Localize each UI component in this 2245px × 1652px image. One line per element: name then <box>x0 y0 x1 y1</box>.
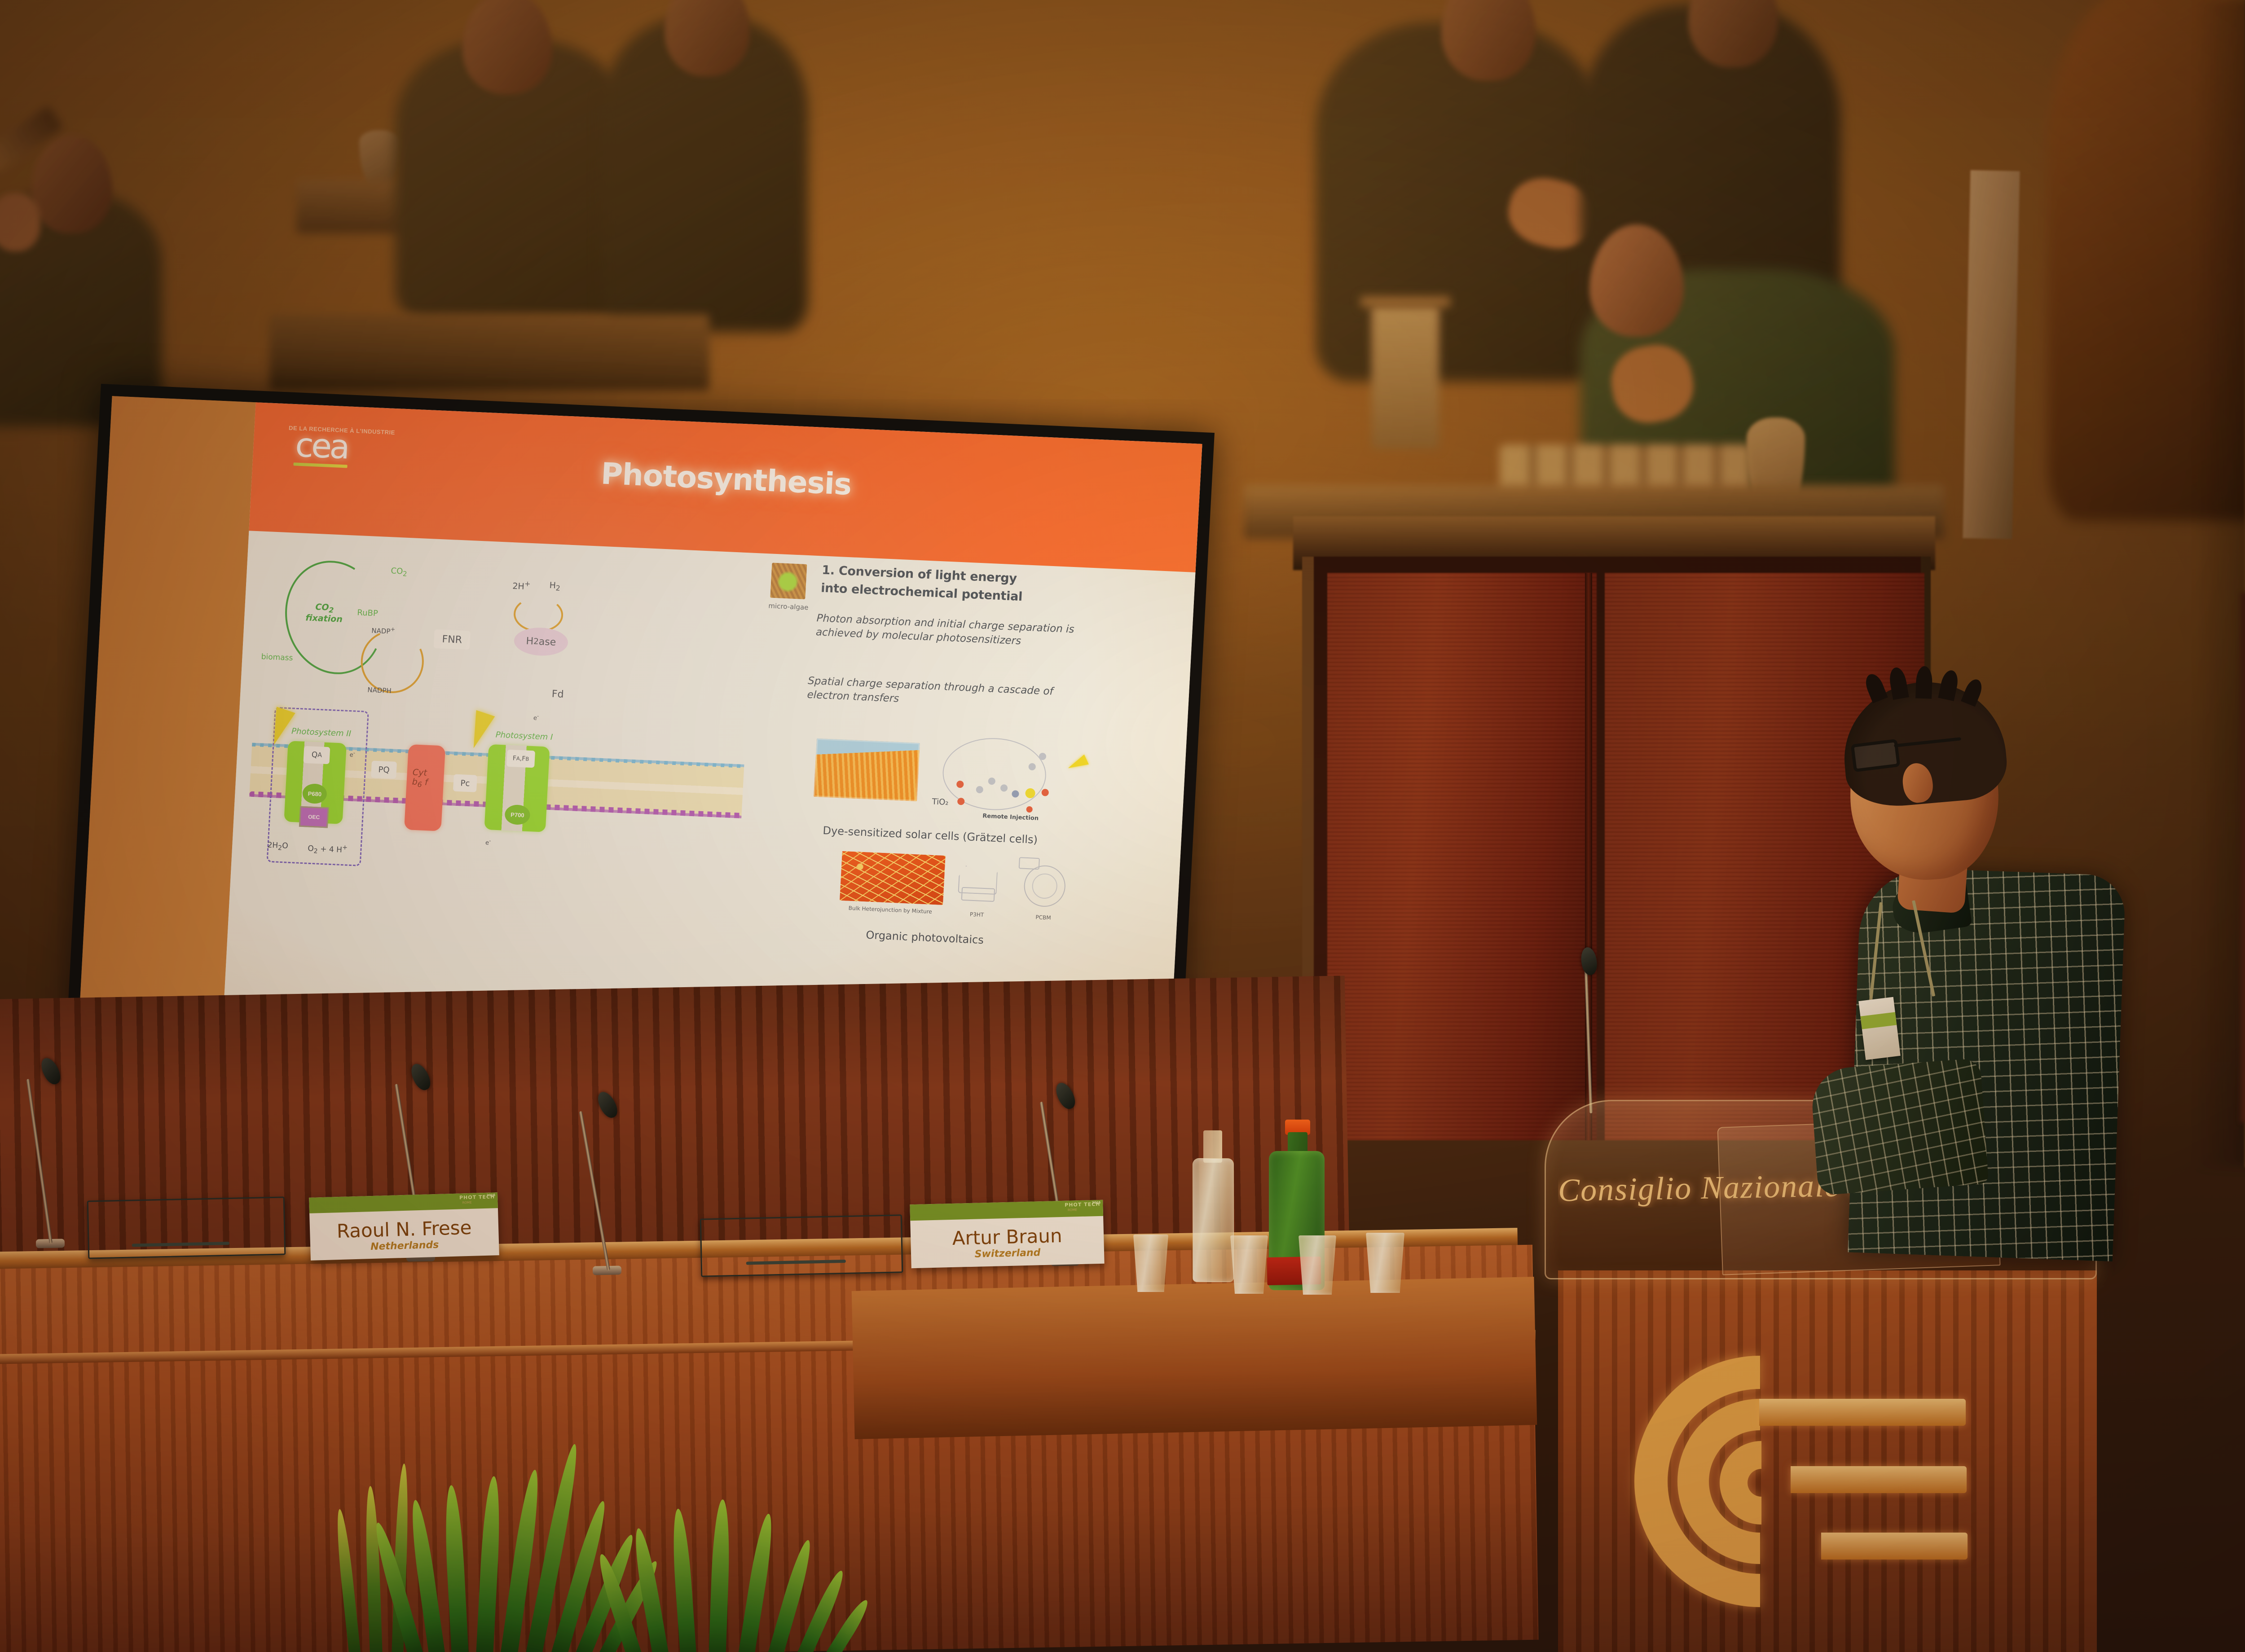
diagram-label-biomass: biomass <box>261 652 293 663</box>
diagram-label-h2: H2 <box>549 580 561 593</box>
atom-node <box>1028 763 1036 770</box>
monitor-bezel-bar <box>746 1260 845 1265</box>
nameplate-year: 2015 <box>487 1193 496 1197</box>
desk-monitor-2[interactable] <box>700 1214 903 1277</box>
plastic-cup-3[interactable] <box>1299 1235 1336 1295</box>
slide-body: CO2fixation RuBP CO2 biomass NADP+ NADPH… <box>224 531 1196 1056</box>
diagram-oec: OEC <box>299 806 329 828</box>
wall-plaque <box>1963 170 2020 539</box>
atom-node-metal <box>1025 788 1035 798</box>
cnr-emblem <box>1634 1356 1967 1652</box>
plant-leaf <box>630 1527 670 1652</box>
tio2-label: TiO₂ <box>932 796 949 808</box>
projection-screen: DE LA RECHERCHE À L'INDUSTRIE cea Photos… <box>67 384 1215 1070</box>
desk-riser-right <box>852 1277 1537 1439</box>
atom-node <box>1039 752 1046 760</box>
right-wall-panel <box>2241 593 2245 1122</box>
glasses-lens <box>1851 739 1901 772</box>
diagram-label-photosystem-i: Photosystem I <box>495 730 553 743</box>
plant-leaf <box>476 1476 502 1652</box>
plastic-cup-4[interactable] <box>1366 1233 1404 1293</box>
diagram-chip-qa: QA <box>303 746 330 764</box>
slide-title: Photosynthesis <box>252 441 1200 517</box>
screen-surface: DE LA RECHERCHE À L'INDUSTRIE cea Photos… <box>79 396 1202 1056</box>
right-paragraph-2: Spatial charge separation through a casc… <box>807 674 1096 714</box>
monitor-bezel-bar <box>132 1242 229 1247</box>
atom-node <box>956 781 964 788</box>
speaker-badge <box>1858 997 1901 1060</box>
diagram-pill-h2ase: H2ase <box>513 627 568 657</box>
cnr-bar-middle <box>1791 1466 1967 1493</box>
diagram-label-2h2o: 2H2O <box>267 841 288 852</box>
plant-leaf <box>443 1485 469 1652</box>
diagram-label-o2-4h: O2 + 4 H+ <box>308 843 348 857</box>
diagram-label-cyt-b6f: Cytb6 f <box>412 768 428 789</box>
cnr-bar-top <box>1759 1399 1966 1426</box>
speaker-torso <box>1848 866 2126 1261</box>
diagram-label-co2: CO2 <box>391 567 408 578</box>
diagram-label-electron-fd: e- <box>533 713 539 722</box>
atom-node <box>976 786 983 793</box>
micro-algae-caption: micro-algae <box>766 601 811 612</box>
pcbm-structure <box>1014 852 1076 914</box>
plant-leaf <box>709 1499 731 1652</box>
bulk-heterojunction-image <box>840 851 946 905</box>
cnr-bar-bottom <box>1821 1533 1968 1560</box>
nameplate-2: PHOT TECH 2015 ROME Artur Braun Switzerl… <box>910 1200 1104 1268</box>
dssc-caption: Dye-sensitized solar cells (Grätzel cell… <box>782 822 1079 849</box>
light-bolt-psi <box>464 710 495 751</box>
diagram-label-electron-qa: e- <box>349 750 355 759</box>
conference-hall-photo: DE LA RECHERCHE À L'INDUSTRIE cea Photos… <box>0 0 2245 1652</box>
p3ht-caption: P3HT <box>952 910 1002 919</box>
diagram-chip-fnr: FNR <box>434 629 471 650</box>
door-leaf-left[interactable] <box>1327 573 1597 1140</box>
diagram-label-rubp: RuBP <box>357 608 378 618</box>
nameplate-logo-sub: ROME <box>462 1201 472 1205</box>
bhj-caption: Bulk Heterojunction by Mixture <box>832 904 949 916</box>
speaker-arm <box>1810 1058 1989 1195</box>
micro-algae-image <box>770 562 807 599</box>
opv-caption: Organic photovoltaics <box>830 926 1020 949</box>
pilaster-shadow <box>2196 0 2245 1167</box>
atom-node <box>988 778 995 785</box>
atom-node <box>1041 789 1049 796</box>
plastic-cup-2[interactable] <box>1230 1235 1268 1294</box>
light-bolt-dye <box>1065 755 1088 773</box>
atom-node <box>1026 806 1033 813</box>
speaker-hair-tuft <box>1915 666 1932 699</box>
remote-injection-label: Remote Injection <box>982 812 1039 822</box>
right-paragraph-1: Photon absorption and initial charge sep… <box>815 611 1095 651</box>
diagram-label-nadph: NADPH <box>367 686 392 695</box>
badge-green-band <box>1860 1012 1897 1029</box>
atom-node <box>1000 784 1008 792</box>
diagram-chip-pq: PQ <box>371 761 397 779</box>
door-frame <box>1302 557 1931 1140</box>
slide-right-column: micro-algae 1. Conversion of light energ… <box>744 556 1186 1054</box>
potted-plant-left <box>341 1419 629 1652</box>
p3ht-structure <box>952 857 1004 909</box>
plant-leaf <box>737 1512 776 1652</box>
solar-cell-photo <box>814 738 920 801</box>
diagram-chip-pc: Pc <box>453 774 477 792</box>
atom-node <box>1012 790 1019 798</box>
potted-plant-right <box>620 1477 862 1652</box>
diagram-label-electron-psi: e- <box>485 838 491 847</box>
diagram-label-co2-fixation: CO2fixation <box>305 602 343 624</box>
nameplate-logo-sub: ROME <box>1068 1208 1077 1212</box>
diagram-label-nadp-plus: NADP+ <box>371 625 396 636</box>
atom-node <box>957 798 964 805</box>
nameplate-1: PHOT TECH 2015 ROME Raoul N. Frese Nethe… <box>309 1192 499 1261</box>
water-bottle[interactable] <box>1193 1158 1234 1282</box>
plant-leaf <box>364 1486 383 1652</box>
diagram-chip-fa-fb: FA,FB <box>506 750 535 768</box>
plastic-cup-1[interactable] <box>1133 1235 1168 1292</box>
desk-monitor-1[interactable] <box>87 1196 286 1259</box>
pcbm-caption: PCBM <box>1014 913 1073 923</box>
dye-molecule-diagram: TiO₂ Remote Injection <box>936 731 1093 823</box>
plant-leaf <box>670 1508 697 1652</box>
nameplate-year: 2015 <box>1092 1201 1101 1204</box>
presentation-slide: DE LA RECHERCHE À L'INDUSTRIE cea Photos… <box>224 402 1202 1056</box>
diagram-label-2h-plus: 2H+ <box>512 579 531 592</box>
photosynthesis-diagram: CO2fixation RuBP CO2 biomass NADP+ NADPH… <box>238 536 755 1032</box>
diagram-label-fd: Fd <box>551 689 564 700</box>
